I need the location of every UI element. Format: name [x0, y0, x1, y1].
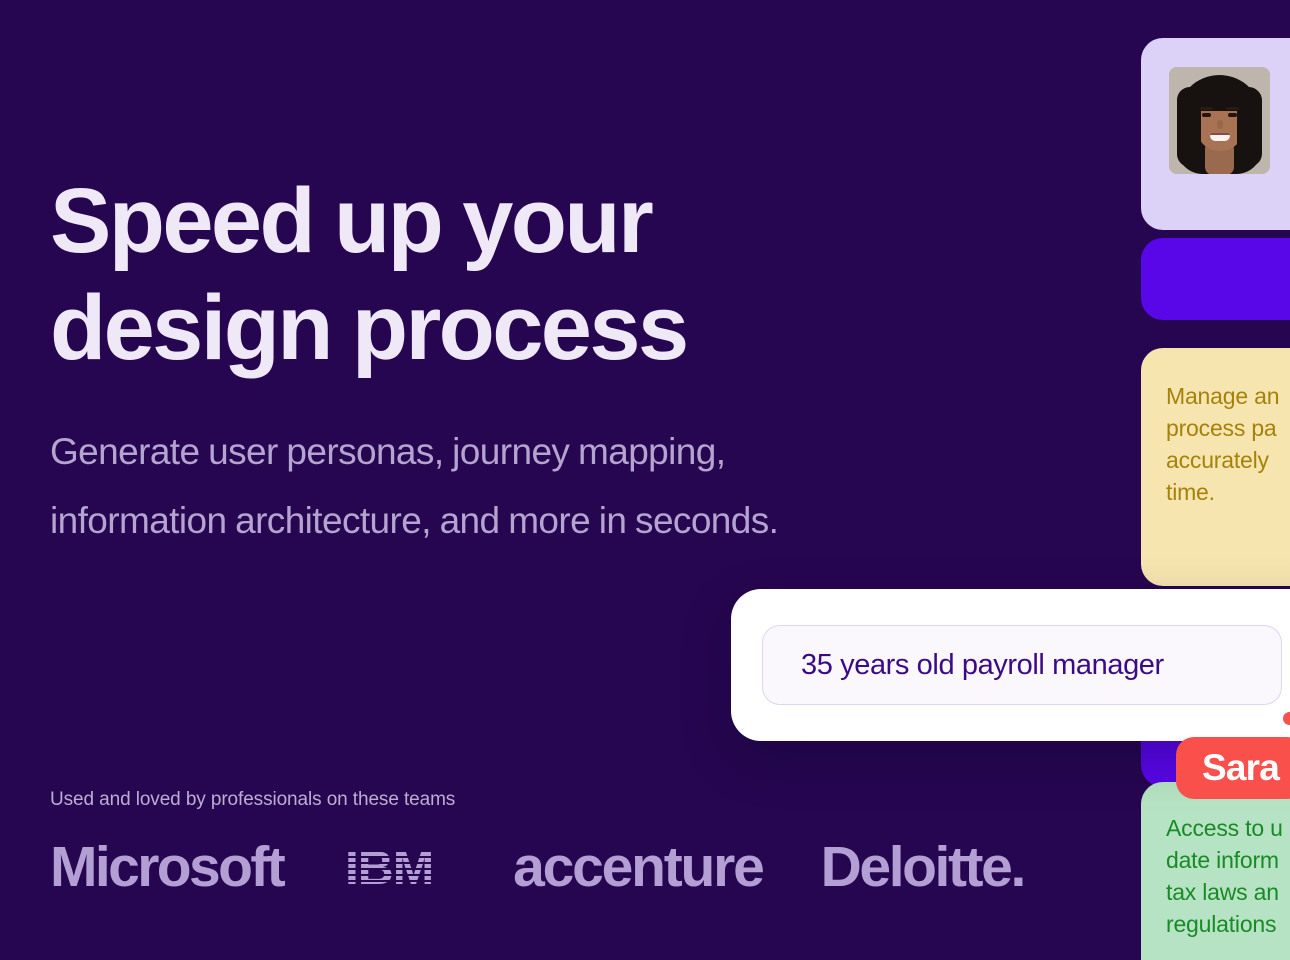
persona-prompt-card — [731, 589, 1290, 741]
social-proof-label: Used and loved by professionals on these… — [50, 788, 455, 812]
persona-needs-text: Access to u date inform tax laws an regu… — [1166, 812, 1290, 940]
page-title: Speed up yourdesign process — [50, 168, 830, 381]
hero-section: Speed up yourdesign process Generate use… — [0, 0, 1290, 960]
headline-line-1: Speed up your — [50, 170, 651, 272]
avatar-eyebrow-right — [1226, 107, 1239, 110]
avatar-hair-top — [1191, 77, 1249, 111]
avatar-nose — [1217, 120, 1223, 129]
avatar — [1169, 67, 1270, 174]
cursor-indicator-dot — [1283, 712, 1290, 725]
avatar-eye-left — [1202, 113, 1211, 117]
client-logo-row: Microsoft IBM accenture Deloitte. — [50, 832, 1024, 902]
deloitte-logo: Deloitte. — [821, 836, 1024, 898]
persona-accent-card-top[interactable] — [1141, 238, 1290, 320]
persona-name-badge: Sara — [1176, 737, 1290, 799]
microsoft-logo: Microsoft — [50, 836, 283, 898]
hero-left-column: Speed up yourdesign process Generate use… — [50, 0, 850, 960]
accenture-logo: accenture — [513, 836, 763, 898]
persona-goals-card[interactable]: Manage an process pa accurately time. — [1141, 348, 1290, 586]
headline-line-2: design process — [50, 277, 687, 379]
persona-goals-text: Manage an process pa accurately time. — [1166, 380, 1290, 508]
ibm-logo: IBM — [345, 845, 453, 891]
persona-avatar-card[interactable] — [1141, 38, 1290, 230]
search-input[interactable] — [762, 625, 1282, 705]
avatar-mouth — [1210, 133, 1230, 141]
persona-needs-card[interactable]: Access to u date inform tax laws an regu… — [1141, 782, 1290, 960]
avatar-eyebrow-left — [1200, 107, 1213, 110]
ibm-logo-text: IBM — [345, 845, 459, 891]
avatar-eye-right — [1228, 113, 1237, 117]
hero-subheading: Generate user personas, journey mapping,… — [50, 417, 780, 555]
